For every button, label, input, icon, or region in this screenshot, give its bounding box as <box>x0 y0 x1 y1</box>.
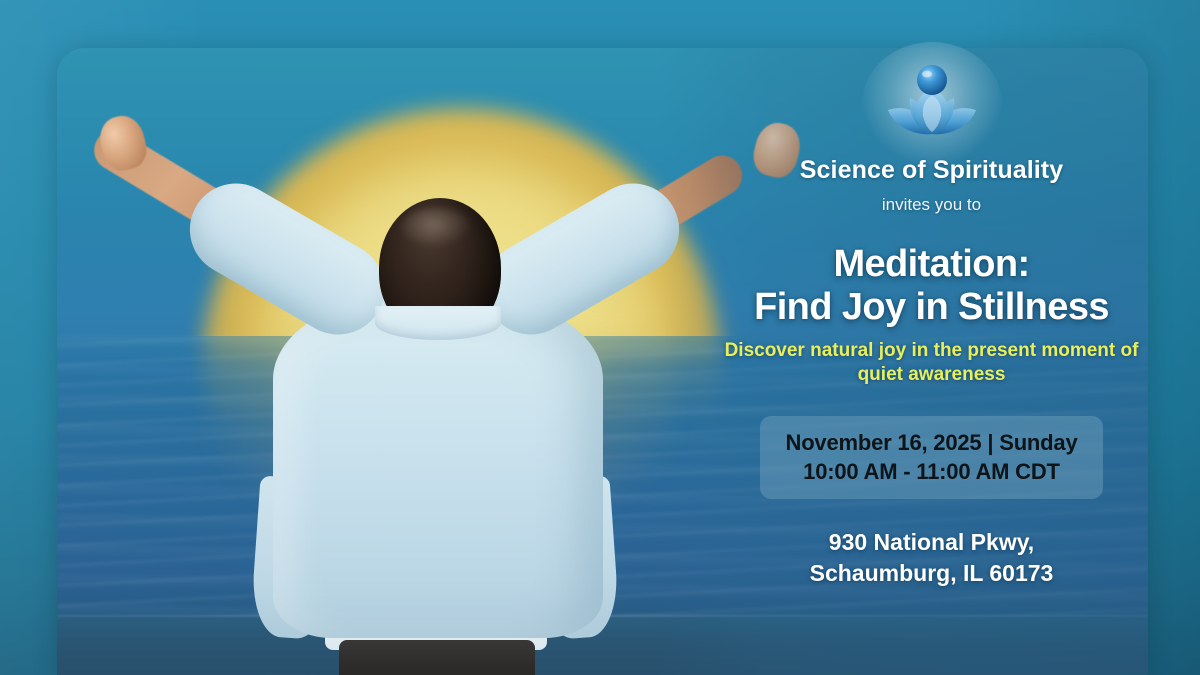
event-tagline-line1: Discover natural joy in the present <box>725 340 1036 361</box>
event-title: Meditation: Find Joy in Stillness <box>754 243 1109 328</box>
shirt-sleeve-left <box>173 167 401 352</box>
shirt-sleeve-right <box>468 167 696 352</box>
lotus-meditation-figure-icon <box>884 60 980 146</box>
event-address: 930 National Pkwy, Schaumburg, IL 60173 <box>810 527 1054 589</box>
shirt-collar <box>375 306 501 340</box>
event-datetime-badge: November 16, 2025 | Sunday 10:00 AM - 11… <box>760 416 1104 499</box>
dark-pants <box>339 640 535 675</box>
event-title-line1: Meditation: <box>833 243 1029 285</box>
logo-svg <box>884 60 980 146</box>
flyer-canvas: Science of Spirituality invites you to M… <box>0 0 1200 675</box>
event-title-line2: Find Joy in Stillness <box>754 286 1109 329</box>
event-tagline: Discover natural joy in the present mome… <box>715 339 1148 388</box>
event-info-column: Science of Spirituality invites you to M… <box>715 48 1148 675</box>
invitation-line: invites you to <box>882 195 981 215</box>
denim-shirt <box>273 298 603 638</box>
event-time: 10:00 AM - 11:00 AM CDT <box>786 457 1078 486</box>
event-date: November 16, 2025 | Sunday <box>786 430 1078 455</box>
hair-highlight <box>401 208 473 248</box>
address-line1: 930 National Pkwy, <box>829 529 1034 555</box>
address-line2: Schaumburg, IL 60173 <box>810 558 1054 589</box>
